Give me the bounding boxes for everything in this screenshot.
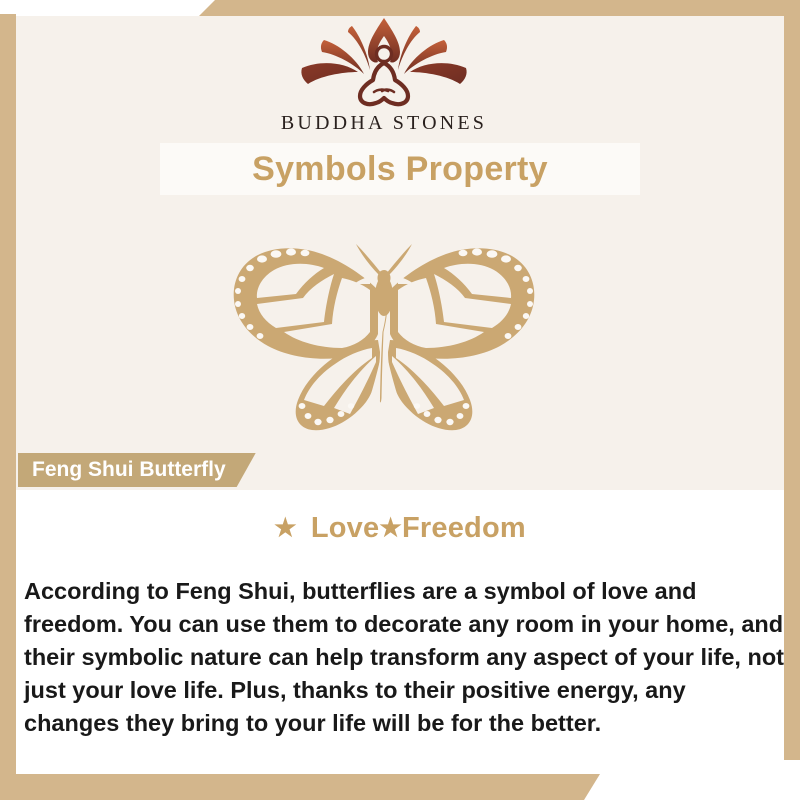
star-icon-left: ★ [274,514,297,542]
section-label-ribbon: Feng Shui Butterfly [18,453,256,487]
brand-wordmark: BUDDHA STONES [0,112,768,135]
lotus-meditation-icon [286,14,482,110]
star-icon-middle: ★ [379,514,402,542]
frame-bottom-accent [0,774,800,800]
page-title-band: Symbols Property [160,143,640,195]
poster-root: BUDDHA STONES Symbols Property [0,0,800,800]
headline-word-freedom: Freedom [402,512,526,544]
headline-word-love: Love [311,512,380,544]
content-headline: ★ Love★Freedom [0,512,800,545]
page-title: Symbols Property [252,150,548,189]
brand-logo: BUDDHA STONES [0,14,768,135]
section-label-text: Feng Shui Butterfly [32,458,226,482]
description-paragraph: According to Feng Shui, butterflies are … [24,575,784,740]
butterfly-illustration [0,228,768,443]
butterfly-icon [204,228,564,438]
frame-right-accent [784,0,800,760]
